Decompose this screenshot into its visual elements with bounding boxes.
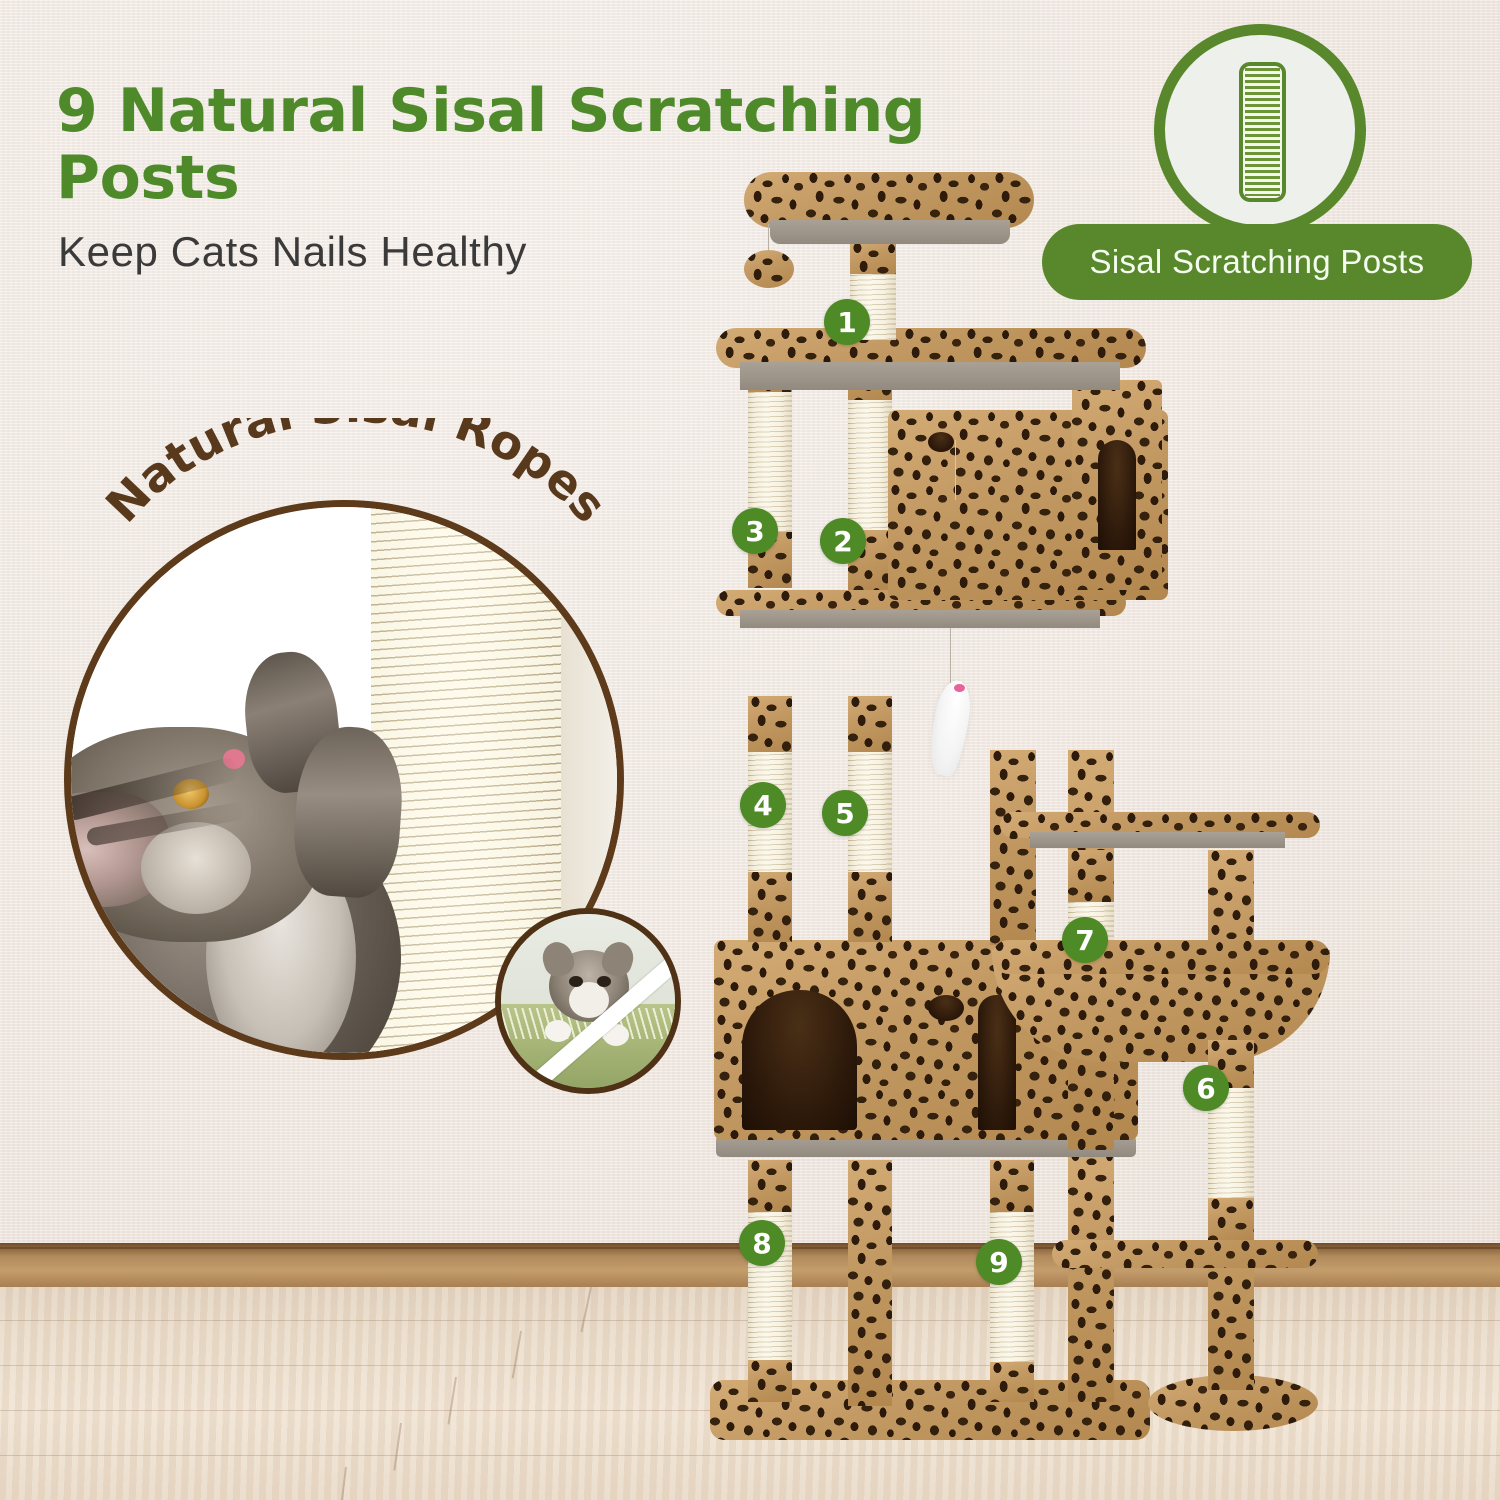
upper-platform-top	[740, 362, 1120, 390]
condo-lower-slot	[978, 995, 1016, 1130]
post-number-badge-2: 2	[820, 518, 866, 564]
post-6-lower-wrap	[1208, 1198, 1254, 1240]
post-9-upper-wrap	[990, 1160, 1034, 1212]
post-5-upper-wrap	[848, 696, 892, 752]
pompom-toy	[744, 250, 794, 288]
condo-upper-door	[1098, 440, 1136, 550]
cat-tree	[700, 150, 1340, 1480]
post-4-lower-wrap	[748, 870, 792, 942]
mouse-string	[950, 628, 951, 686]
cat-photo	[64, 627, 501, 1060]
product-infographic: 9 Natural Sisal Scratching Posts Keep Ca…	[0, 0, 1500, 1500]
post-4-upper-wrap	[748, 696, 792, 752]
post-8-lower-wrap	[748, 1360, 792, 1402]
side-platform-low	[1052, 1240, 1318, 1268]
hammock-rim	[992, 940, 1330, 974]
post-number-badge-3: 3	[732, 508, 778, 554]
condo-lower-window	[928, 995, 964, 1021]
post-number-badge-4: 4	[740, 782, 786, 828]
post-lower-d	[1068, 1150, 1114, 1402]
post-number-badge-6: 6	[1183, 1065, 1229, 1111]
post-9-lower-wrap	[990, 1362, 1034, 1402]
condo-upper-window	[928, 432, 954, 452]
mid-shelf-top	[740, 610, 1100, 628]
post-2-sisal	[848, 398, 892, 530]
post-number-badge-7: 7	[1062, 917, 1108, 963]
post-9-sisal	[990, 1212, 1034, 1362]
post-7-upper-wrap	[1068, 850, 1114, 902]
post-8-upper-wrap	[748, 1160, 792, 1212]
toy-hook-string	[955, 440, 956, 500]
post-number-badge-9: 9	[976, 1239, 1022, 1285]
top-perch-top	[770, 220, 1010, 244]
post-number-badge-1: 1	[824, 299, 870, 345]
mouse-toy	[925, 678, 975, 778]
mouse-nose	[954, 684, 965, 692]
inset-photo-circle	[495, 908, 681, 1094]
side-platform-high-top	[1030, 832, 1285, 848]
post-number-badge-8: 8	[739, 1220, 785, 1266]
post-5-lower-wrap	[848, 870, 892, 942]
post-1-cap	[850, 242, 896, 274]
post-lower-b	[848, 1160, 892, 1406]
post-number-badge-5: 5	[822, 790, 868, 836]
condo-lower-door	[742, 990, 857, 1130]
